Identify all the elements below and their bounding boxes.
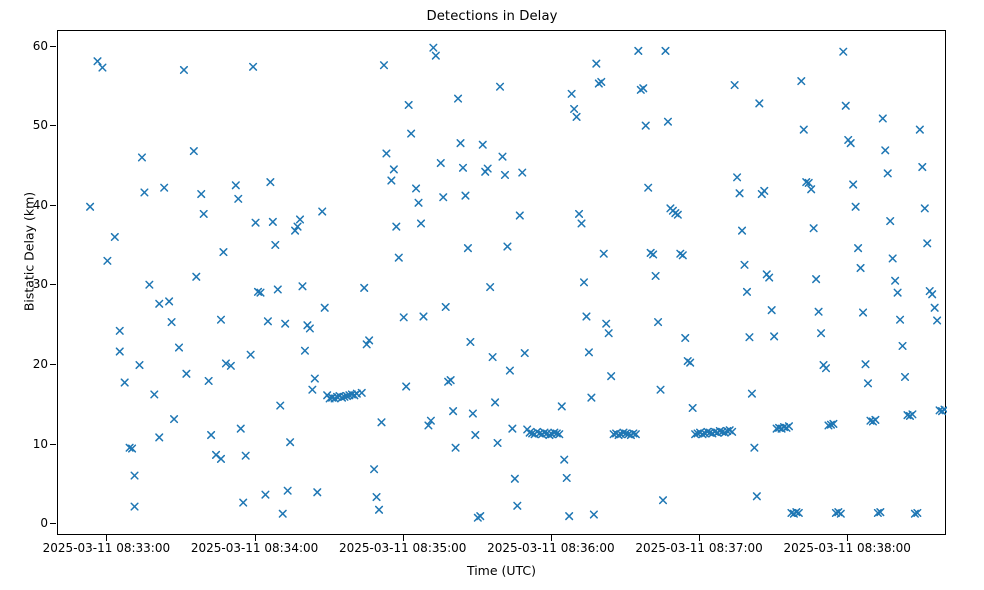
scatter-marker — [850, 181, 857, 188]
scatter-marker — [104, 258, 111, 265]
scatter-marker — [205, 378, 212, 385]
scatter-marker — [161, 184, 168, 191]
scatter-marker — [218, 316, 225, 323]
scatter-marker — [470, 410, 477, 417]
scatter-marker — [99, 64, 106, 71]
scatter-marker — [393, 223, 400, 230]
scatter-marker — [894, 289, 901, 296]
scatter-marker — [892, 277, 899, 284]
scatter-marker — [299, 283, 306, 290]
scatter-marker — [756, 100, 763, 107]
y-tick-label: 10 — [33, 437, 48, 451]
scatter-marker — [818, 330, 825, 337]
scatter-marker — [156, 300, 163, 307]
scatter-marker — [751, 444, 758, 451]
scatter-marker — [675, 211, 682, 218]
x-tick-label: 2025-03-11 08:34:00 — [191, 541, 318, 555]
scatter-marker — [319, 208, 326, 215]
scatter-marker — [746, 334, 753, 341]
scatter-marker — [734, 174, 741, 181]
scatter-marker — [376, 506, 383, 513]
scatter-marker — [766, 274, 773, 281]
scatter-marker — [403, 383, 410, 390]
scatter-marker — [687, 359, 694, 366]
scatter-marker — [657, 386, 664, 393]
scatter-marker — [917, 126, 924, 133]
scatter-marker — [823, 365, 830, 372]
scatter-marker — [262, 491, 269, 498]
scatter-marker — [603, 320, 610, 327]
scatter-marker — [472, 432, 479, 439]
scatter-marker — [420, 313, 427, 320]
scatter-marker — [897, 316, 904, 323]
scatter-marker — [655, 319, 662, 326]
scatter-marker — [235, 196, 242, 203]
scatter-marker — [744, 289, 751, 296]
y-tick-mark — [50, 444, 56, 445]
scatter-marker — [838, 510, 845, 517]
scatter-marker — [233, 182, 240, 189]
scatter-marker — [156, 434, 163, 441]
scatter-marker — [879, 115, 886, 122]
scatter-marker — [561, 456, 568, 463]
scatter-marker — [408, 130, 415, 137]
scatter-marker — [860, 309, 867, 316]
scatter-marker — [193, 273, 200, 280]
scatter-marker — [941, 406, 947, 413]
scatter-marker — [405, 102, 412, 109]
scatter-marker — [321, 304, 328, 311]
scatter-marker — [754, 493, 761, 500]
scatter-marker — [761, 188, 768, 195]
scatter-marker — [573, 114, 580, 121]
scatter-marker — [588, 394, 595, 401]
scatter-marker — [168, 319, 175, 326]
scatter-marker — [840, 48, 847, 55]
scatter-marker — [460, 164, 467, 171]
plot-area — [57, 30, 946, 535]
scatter-marker — [924, 240, 931, 247]
scatter-marker — [274, 286, 281, 293]
scatter-marker — [640, 85, 647, 92]
scatter-marker — [934, 317, 941, 324]
scatter-marker — [509, 425, 516, 432]
scatter-marker — [855, 245, 862, 252]
scatter-marker — [842, 102, 849, 109]
scatter-marker — [665, 118, 672, 125]
x-tick-label: 2025-03-11 08:33:00 — [43, 541, 170, 555]
scatter-marker — [181, 67, 188, 74]
scatter-marker — [218, 456, 225, 463]
scatter-marker — [605, 330, 612, 337]
y-tick-mark — [50, 523, 56, 524]
scatter-marker — [309, 386, 316, 393]
scatter-marker — [502, 172, 509, 179]
scatter-marker — [798, 78, 805, 85]
scatter-marker — [645, 184, 652, 191]
scatter-marker — [919, 164, 926, 171]
y-tick-mark — [50, 125, 56, 126]
scatter-marker — [813, 276, 820, 283]
scatter-marker — [857, 265, 864, 272]
scatter-marker — [576, 211, 583, 218]
scatter-marker — [662, 48, 669, 55]
scatter-marker — [112, 234, 119, 241]
x-axis-label: Time (UTC) — [57, 563, 946, 578]
scatter-marker — [240, 499, 247, 506]
scatter-marker — [373, 494, 380, 501]
scatter-marker — [455, 95, 462, 102]
scatter-marker — [514, 502, 521, 509]
scatter-marker — [465, 245, 472, 252]
scatter-marker — [191, 148, 198, 155]
scatter-marker — [516, 212, 523, 219]
scatter-marker — [494, 440, 501, 447]
scatter-marker — [171, 416, 178, 423]
scatter-marker — [786, 423, 793, 430]
scatter-marker — [487, 284, 494, 291]
scatter-marker — [433, 52, 440, 59]
scatter-marker — [272, 242, 279, 249]
scatter-marker — [566, 513, 573, 520]
scatter-marker — [237, 425, 244, 432]
scatter-marker — [247, 351, 254, 358]
scatter-marker — [568, 91, 575, 98]
scatter-marker — [731, 82, 738, 89]
scatter-marker — [252, 219, 259, 226]
scatter-marker — [371, 466, 378, 473]
scatter-marker — [800, 126, 807, 133]
scatter-marker — [771, 333, 778, 340]
scatter-marker — [521, 350, 528, 357]
scatter-marker — [479, 141, 486, 148]
scatter-marker — [415, 199, 422, 206]
scatter-marker — [929, 291, 936, 298]
scatter-marker — [931, 304, 938, 311]
scatter-marker — [437, 160, 444, 167]
y-tick-mark — [50, 46, 56, 47]
scatter-marker — [815, 308, 822, 315]
scatter-marker — [388, 177, 395, 184]
scatter-marker — [571, 106, 578, 113]
scatter-marker — [457, 140, 464, 147]
scatter-marker — [131, 503, 138, 510]
scatter-marker — [121, 379, 128, 386]
x-tick-label: 2025-03-11 08:35:00 — [339, 541, 466, 555]
scatter-marker — [378, 419, 385, 426]
scatter-marker — [489, 354, 496, 361]
scatter-marker — [598, 79, 605, 86]
scatter-marker — [492, 399, 499, 406]
scatter-marker — [440, 194, 447, 201]
scatter-marker — [581, 279, 588, 286]
scatter-marker — [395, 254, 402, 261]
scatter-marker — [736, 190, 743, 197]
scatter-marker — [583, 313, 590, 320]
scatter-marker — [297, 216, 304, 223]
scatter-marker — [361, 285, 368, 292]
scatter-marker — [391, 166, 398, 173]
scatter-marker — [902, 374, 909, 381]
x-tick-label: 2025-03-11 08:37:00 — [635, 541, 762, 555]
scatter-marker — [267, 179, 274, 186]
scatter-marker — [586, 349, 593, 356]
scatter-marker — [608, 373, 615, 380]
scatter-marker — [277, 402, 284, 409]
scatter-marker — [284, 487, 291, 494]
scatter-marker — [652, 273, 659, 280]
y-tick-label: 0 — [40, 516, 48, 530]
scatter-marker — [484, 165, 491, 172]
scatter-marker — [741, 262, 748, 269]
scatter-marker — [497, 83, 504, 90]
figure-canvas: Detections in Delay 0102030405060 2025-0… — [0, 0, 984, 590]
scatter-marker — [442, 304, 449, 311]
scatter-marker — [418, 220, 425, 227]
scatter-marker — [635, 48, 642, 55]
scatter-marker — [136, 362, 143, 369]
scatter-marker — [600, 250, 607, 257]
scatter-marker — [504, 243, 511, 250]
scatter-marker — [882, 147, 889, 154]
scatter-marker — [847, 140, 854, 147]
scatter-marker — [660, 497, 667, 504]
scatter-marker — [507, 367, 514, 374]
scatter-marker — [768, 307, 775, 314]
scatter-marker — [302, 347, 309, 354]
scatter-marker — [312, 375, 319, 382]
scatter-marker — [921, 205, 928, 212]
scatter-marker — [810, 225, 817, 232]
scatter-marker — [591, 511, 598, 518]
scatter-marker — [650, 251, 657, 258]
scatter-marker — [307, 325, 314, 332]
scatter-marker — [563, 475, 570, 482]
chart-title: Detections in Delay — [0, 9, 984, 24]
scatter-marker — [512, 475, 519, 482]
scatter-marker — [250, 63, 257, 70]
scatter-marker — [146, 281, 153, 288]
scatter-marker — [87, 203, 94, 210]
scatter-marker — [467, 339, 474, 346]
scatter-marker — [166, 298, 173, 305]
scatter-marker — [242, 452, 249, 459]
scatter-marker — [450, 408, 457, 415]
scatter-marker — [477, 513, 484, 520]
scatter-marker — [131, 472, 138, 479]
scatter-marker — [400, 314, 407, 321]
scatter-marker — [808, 186, 815, 193]
scatter-marker — [889, 255, 896, 262]
y-tick-mark — [50, 364, 56, 365]
scatter-marker — [151, 391, 158, 398]
scatter-marker — [519, 169, 526, 176]
x-tick-label: 2025-03-11 08:36:00 — [487, 541, 614, 555]
scatter-series-detections — [87, 44, 947, 521]
scatter-marker — [884, 170, 891, 177]
scatter-marker — [729, 429, 736, 436]
scatter-marker — [141, 189, 148, 196]
scatter-marker — [358, 390, 365, 397]
scatter-marker — [430, 44, 437, 51]
scatter-marker — [198, 191, 205, 198]
scatter-marker — [383, 150, 390, 157]
x-tick-label: 2025-03-11 08:38:00 — [783, 541, 910, 555]
scatter-marker — [381, 62, 388, 69]
scatter-marker — [94, 58, 101, 65]
scatter-marker — [176, 344, 183, 351]
scatter-marker — [282, 320, 289, 327]
scatter-marker — [139, 154, 146, 161]
scatter-marker — [413, 185, 420, 192]
scatter-marker — [852, 203, 859, 210]
scatter-marker — [265, 318, 272, 325]
scatter-marker — [116, 328, 123, 335]
scatter-marker — [270, 219, 277, 226]
scatter-marker — [689, 405, 696, 412]
scatter-marker — [452, 444, 459, 451]
y-tick-mark — [50, 284, 56, 285]
scatter-marker — [642, 122, 649, 129]
scatter-marker — [749, 390, 756, 397]
scatter-marker — [593, 60, 600, 67]
scatter-marker — [558, 403, 565, 410]
scatter-marker — [739, 227, 746, 234]
scatter-marker — [887, 218, 894, 225]
scatter-marker — [682, 335, 689, 342]
scatter-marker — [865, 380, 872, 387]
y-tick-label: 60 — [33, 39, 48, 53]
scatter-marker — [314, 489, 321, 496]
scatter-marker — [578, 220, 585, 227]
scatter-marker — [462, 192, 469, 199]
scatter-marker — [679, 252, 686, 259]
scatter-marker — [862, 361, 869, 368]
y-axis-label: Bistatic Delay (km) — [22, 102, 37, 402]
scatter-marker — [279, 510, 286, 517]
scatter-marker — [200, 211, 207, 218]
scatter-marker — [447, 377, 454, 384]
scatter-marker — [909, 411, 916, 418]
scatter-marker — [899, 343, 906, 350]
scatter-marker — [220, 249, 227, 256]
y-tick-mark — [50, 205, 56, 206]
scatter-marker — [872, 417, 879, 424]
scatter-marker — [208, 432, 215, 439]
scatter-marker — [287, 439, 294, 446]
scatter-points-layer — [58, 31, 947, 536]
scatter-marker — [499, 153, 506, 160]
scatter-marker — [116, 348, 123, 355]
scatter-marker — [183, 370, 190, 377]
